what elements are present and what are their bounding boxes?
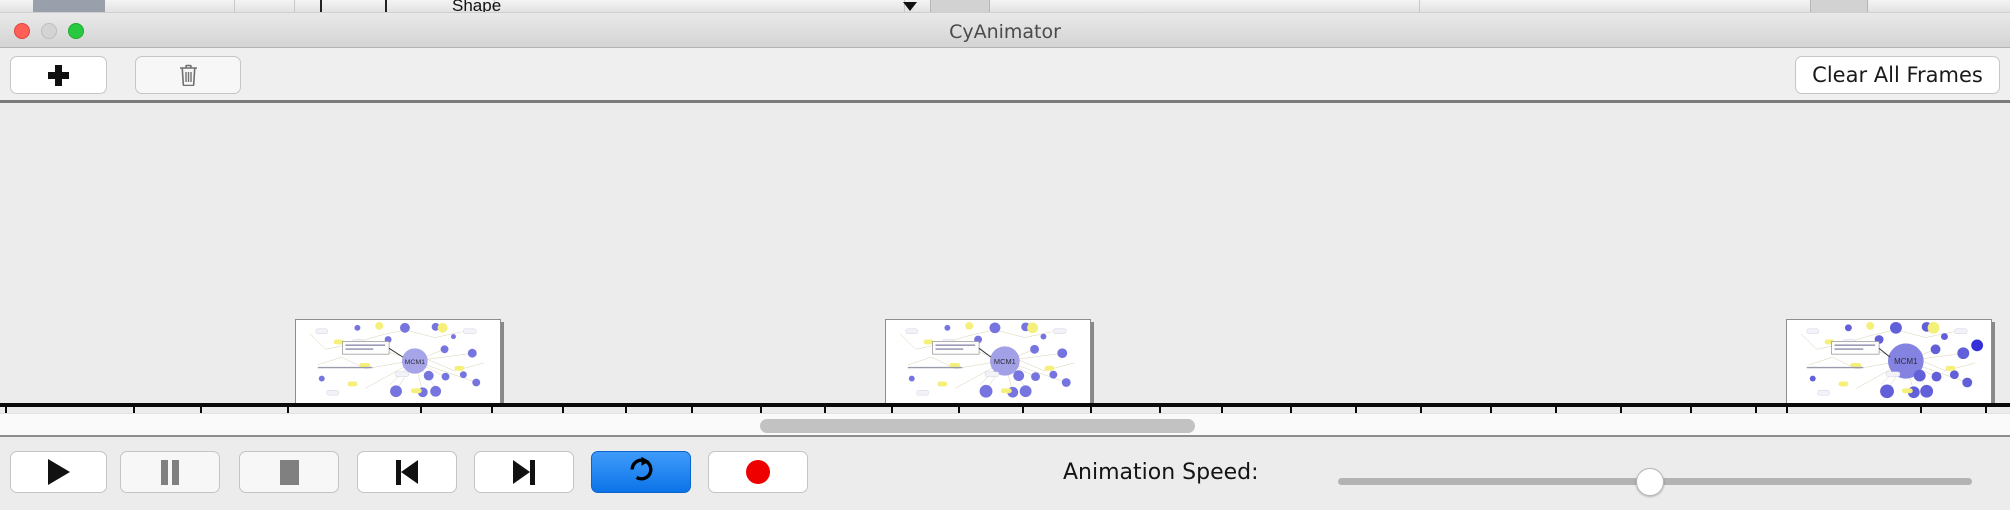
stop-icon (280, 460, 299, 485)
play-button[interactable] (10, 451, 107, 493)
background-cell (235, 0, 295, 12)
play-icon (48, 459, 70, 485)
background-cell (495, 0, 905, 12)
timeline-scrollbar-thumb[interactable] (760, 419, 1195, 433)
timeline-scrollbar-track[interactable] (0, 413, 2010, 437)
frame-timeline[interactable]: MCM1 (0, 103, 2010, 413)
background-app-label: Shape (452, 0, 501, 12)
add-frame-button[interactable] (10, 56, 107, 94)
loop-button[interactable] (591, 451, 691, 493)
playback-toolbar: Animation Speed: (0, 437, 2010, 508)
skip-forward-button[interactable] (474, 451, 574, 493)
toolbar: Clear All Frames (0, 48, 2010, 103)
background-box (1810, 0, 1868, 12)
animation-speed-label: Animation Speed: (1063, 460, 1259, 485)
pause-icon (160, 460, 180, 485)
background-tick (385, 0, 387, 12)
background-box (930, 0, 990, 12)
skip-back-button[interactable] (357, 451, 457, 493)
clear-all-frames-button[interactable]: Clear All Frames (1795, 56, 2000, 94)
window-titlebar: CyAnimator (0, 13, 2010, 48)
loop-icon (628, 456, 655, 488)
frame-thumbnail[interactable]: MCM1 (885, 319, 1091, 404)
background-cell (1000, 0, 1420, 12)
skip-backward-icon (396, 460, 418, 485)
thumbnail-node-label: MCM1 (1894, 357, 1917, 366)
trash-icon (179, 64, 198, 86)
stop-button[interactable] (239, 451, 339, 493)
frame-thumbnail[interactable]: MCM1 (295, 319, 501, 404)
background-triangle-icon (903, 2, 917, 11)
pause-button[interactable] (120, 451, 220, 493)
background-cell (105, 0, 235, 12)
plus-icon (48, 65, 69, 86)
thumbnail-node-label: MCM1 (405, 359, 426, 366)
window-title: CyAnimator (0, 21, 2010, 43)
thumbnail-node-label: MCM1 (994, 357, 1016, 366)
record-icon (746, 460, 770, 484)
cyanimator-window: CyAnimator Clear All Frames (0, 12, 2010, 510)
background-selected-cell (33, 0, 105, 12)
background-tick (320, 0, 322, 12)
record-button[interactable] (708, 451, 808, 493)
delete-frame-button[interactable] (135, 56, 241, 94)
skip-forward-icon (513, 460, 535, 485)
background-app-strip: Shape (0, 0, 2010, 12)
animation-speed-slider-thumb[interactable] (1636, 468, 1664, 496)
timeline-axis (0, 403, 2010, 407)
frame-thumbnail[interactable]: MCM1 (1786, 319, 1992, 404)
